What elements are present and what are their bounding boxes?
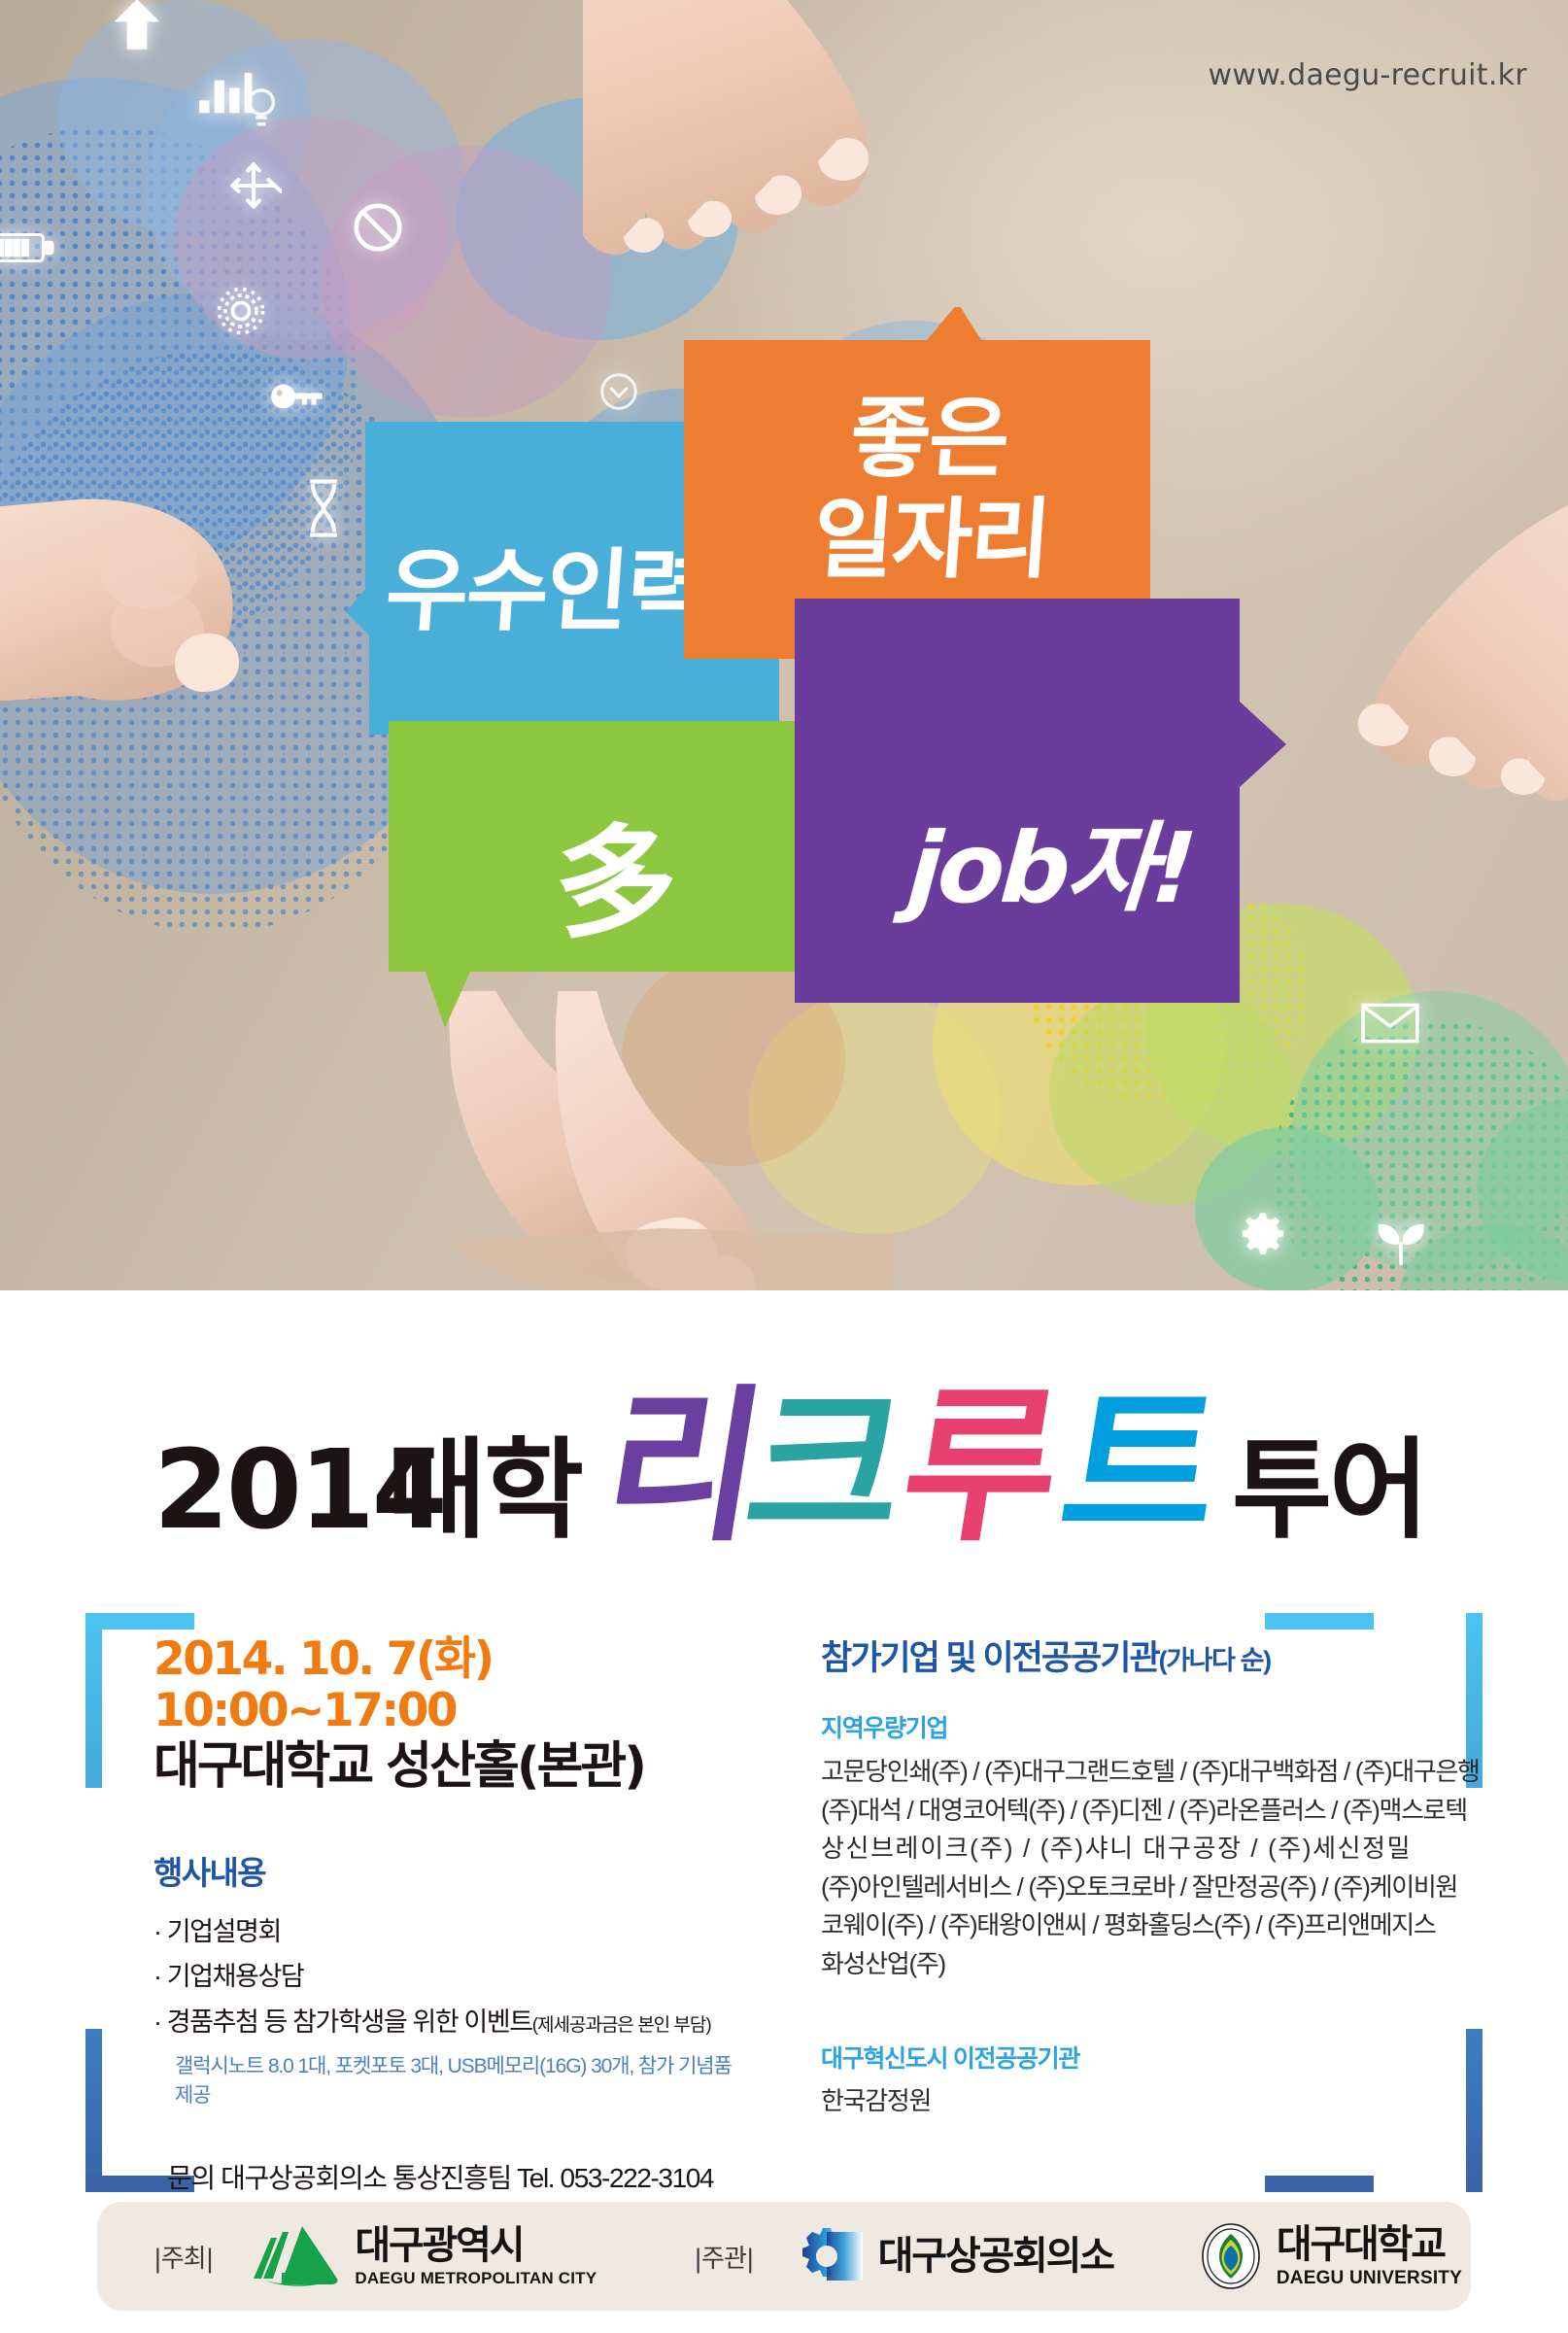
gift-note: 갤럭시노트 8.0 1대, 포켓포토 3대, USB메모리(16G) 30개, … xyxy=(175,2050,736,2109)
company-list: 고문당인쇄(주) / (주)대구그랜드호텔 / (주)대구백화점 / (주)대구… xyxy=(821,1753,1433,1983)
program-bullet-text: · 기업설명회 xyxy=(153,1917,281,1946)
title-logo-char-2: 루 xyxy=(892,1384,1066,1551)
logo-daegu-univ-en: DAEGU UNIVERSITY xyxy=(1277,2269,1462,2287)
logo-daegu-univ-ko: 대구대학교 xyxy=(1277,2225,1462,2264)
bubble-purple: job자! xyxy=(795,599,1300,1007)
prohibition-icon xyxy=(350,199,406,256)
logo-daegu-cci-ko: 대구상공회의소 xyxy=(878,2237,1113,2276)
envelope-icon xyxy=(1360,1001,1420,1046)
decor-blob xyxy=(1292,991,1568,1273)
svg-text:DAEGU: DAEGU xyxy=(281,2270,333,2286)
program-bullet: · 기업설명회 xyxy=(153,1909,736,1954)
info-panel: 2014. 10. 7(화) 10:00~17:00 대구대학교 성산홀(본관)… xyxy=(0,1601,1568,2204)
chevron-down-icon xyxy=(597,369,641,414)
participants-column: 참가기업 및 이전공공기관(가나다 순) 지역우량기업 고문당인쇄(주) / (… xyxy=(821,1630,1433,2117)
public-org-item: 한국감정원 xyxy=(821,2081,1433,2117)
decor-blob xyxy=(1195,1127,1380,1290)
decor-blob xyxy=(175,117,447,360)
website-url[interactable]: www.daegu-recruit.kr xyxy=(1209,58,1527,92)
daegu-city-mark: DAEGU xyxy=(252,2224,341,2288)
decor-halftone xyxy=(1273,1020,1568,1290)
gear-icon xyxy=(212,282,270,340)
company-list-line: 화성산업(주) xyxy=(821,1945,1433,1984)
participants-heading-paren: (가나다 순) xyxy=(1159,1646,1271,1675)
title-suffix: 투어 xyxy=(1232,1436,1426,1545)
hand-top-right xyxy=(583,0,991,340)
hourglass-icon xyxy=(301,476,346,540)
logo-daegu-city-ko: 대구광역시 xyxy=(355,2226,597,2265)
company-list-line: (주)대석 / 대영코어텍(주) / (주)디젠 / (주)라온플러스 / (주… xyxy=(821,1792,1433,1831)
arrow-up-icon xyxy=(107,0,167,54)
logo-daegu-city: DAEGU 대구광역시 DAEGU METROPOLITAN CITY xyxy=(252,2224,597,2288)
decor-blob xyxy=(58,0,311,233)
decor-blob xyxy=(1399,1224,1568,1290)
decor-blob xyxy=(0,78,350,583)
participants-heading: 참가기업 및 이전공공기관(가나다 순) xyxy=(821,1630,1433,1680)
company-list-line: 상신브레이크(주) / (주)샤니 대구공장 / (주)세신정밀 xyxy=(821,1830,1433,1869)
hand-bottom xyxy=(369,991,894,1290)
title-univ: 대학 xyxy=(387,1436,581,1545)
decor-blob xyxy=(1049,981,1292,1205)
logo-daegu-city-en: DAEGU METROPOLITAN CITY xyxy=(355,2270,597,2286)
page-title: 2014 대학 리 크 루 트 투어 xyxy=(0,1360,1568,1545)
participants-heading-text: 참가기업 및 이전공공기관 xyxy=(821,1639,1159,1677)
bubble-blue-text: 우수인력 xyxy=(382,519,712,648)
poster-root: 우수인력 좋은 일자리 多 job자! www.daegu-recruit.kr xyxy=(0,0,1568,2333)
battery-icon xyxy=(0,225,54,270)
leaf-icon xyxy=(1372,1215,1430,1269)
hand-fist-left xyxy=(0,457,369,777)
company-list-line: 코웨이(주) / (주)태왕이앤씨 / 평화홀딩스(주) / (주)프리앤메지스 xyxy=(821,1906,1433,1945)
bubble-green: 多 xyxy=(389,721,826,1032)
program-bullet: · 경품추첨 등 참가학생을 위한 이벤트(제세공과금은 본인 부담) xyxy=(153,2000,736,2044)
program-bullet-text: · 기업채용상담 xyxy=(153,1962,303,1991)
title-logo-char-1: 크 xyxy=(736,1384,910,1551)
company-list-line: 고문당인쇄(주) / (주)대구그랜드호텔 / (주)대구백화점 / (주)대구… xyxy=(821,1753,1433,1792)
decor-blob xyxy=(1477,1098,1568,1283)
lightbulb-icon xyxy=(235,83,288,135)
program-bullet: · 기업채용상담 xyxy=(153,1954,736,1999)
bubble-green-text: 多 xyxy=(550,785,685,962)
program-heading: 행사내용 xyxy=(153,1847,736,1894)
bar-chart-icon xyxy=(194,60,255,120)
company-list-line: (주)아인텔레서비스 / (주)오토크로바 / 잘만정공(주) / (주)케이비… xyxy=(821,1869,1433,1907)
decor-halftone xyxy=(0,126,359,670)
event-details-column: 2014. 10. 7(화) 10:00~17:00 대구대학교 성산홀(본관)… xyxy=(153,1634,736,2196)
organizer-label: |주관| xyxy=(694,2239,753,2275)
subhead-local-companies: 지역우량기업 xyxy=(821,1709,1433,1744)
logo-daegu-univ: 대구대학교 DAEGU UNIVERSITY xyxy=(1197,2222,1462,2290)
bubble-purple-text: job자! xyxy=(904,789,1198,930)
event-venue: 대구대학교 성산홀(본관) xyxy=(153,1738,736,1797)
decor-blob xyxy=(457,97,738,340)
bubble-orange-text-2: 일자리 xyxy=(809,468,1053,595)
program-bullet-note: (제세공과금은 본인 부담) xyxy=(532,2015,711,2036)
logo-daegu-cci: 대구상공회의소 xyxy=(791,2224,1113,2288)
sponsor-footer: |주최| DAEGU 대구광역시 DAEGU METROPOLITAN CITY… xyxy=(97,2202,1471,2311)
daegu-univ-mark xyxy=(1197,2222,1265,2290)
daegu-cci-mark xyxy=(791,2224,867,2288)
program-bullet-text: · 경품추첨 등 참가학생을 위한 이벤트 xyxy=(153,2007,532,2037)
decor-blob xyxy=(321,146,612,418)
gear-icon-2 xyxy=(1239,1210,1287,1258)
move-arrows-icon xyxy=(225,157,282,214)
key-icon xyxy=(270,377,326,416)
host-label: |주최| xyxy=(153,2239,213,2275)
subhead-public-orgs: 대구혁신도시 이전공공기관 xyxy=(821,2040,1433,2075)
contact-line: 문의 대구상공회의소 통상진흥팀 Tel. 053-222-3104 xyxy=(167,2157,736,2196)
event-date: 2014. 10. 7(화) 10:00~17:00 xyxy=(153,1634,736,1736)
decor-blob xyxy=(146,39,466,340)
hero-banner: 우수인력 좋은 일자리 多 job자! www.daegu-recruit.kr xyxy=(0,0,1568,1290)
title-logo-char-3: 트 xyxy=(1051,1384,1225,1551)
